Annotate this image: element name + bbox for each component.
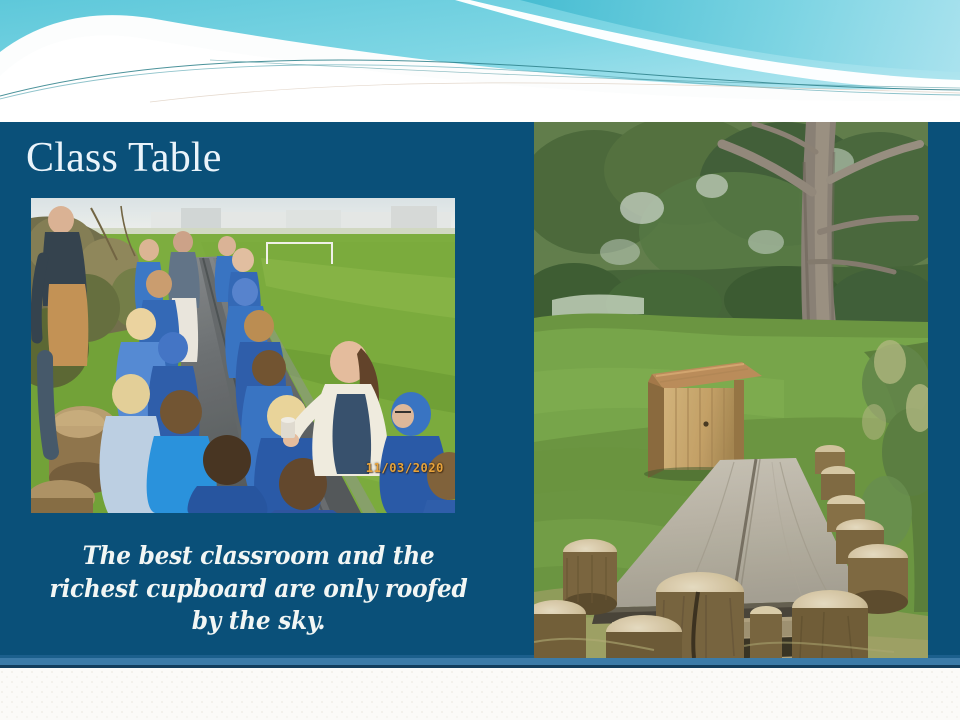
slide-caption: The best classroom and the richest cupbo… (47, 540, 470, 638)
slide-canvas: Class Table (0, 0, 960, 720)
flow-theme-banner (0, 0, 960, 122)
photo-children-graphic (31, 198, 455, 513)
slide-title: Class Table (26, 136, 506, 181)
photo-table-and-shed (534, 122, 928, 658)
panel-accent-line-dark (0, 665, 960, 668)
photo-children-at-table: 11/03/2020 (31, 198, 455, 513)
panel-accent-line-light (0, 658, 960, 665)
photo-table-graphic (534, 122, 928, 658)
banner-graphic (0, 0, 960, 122)
